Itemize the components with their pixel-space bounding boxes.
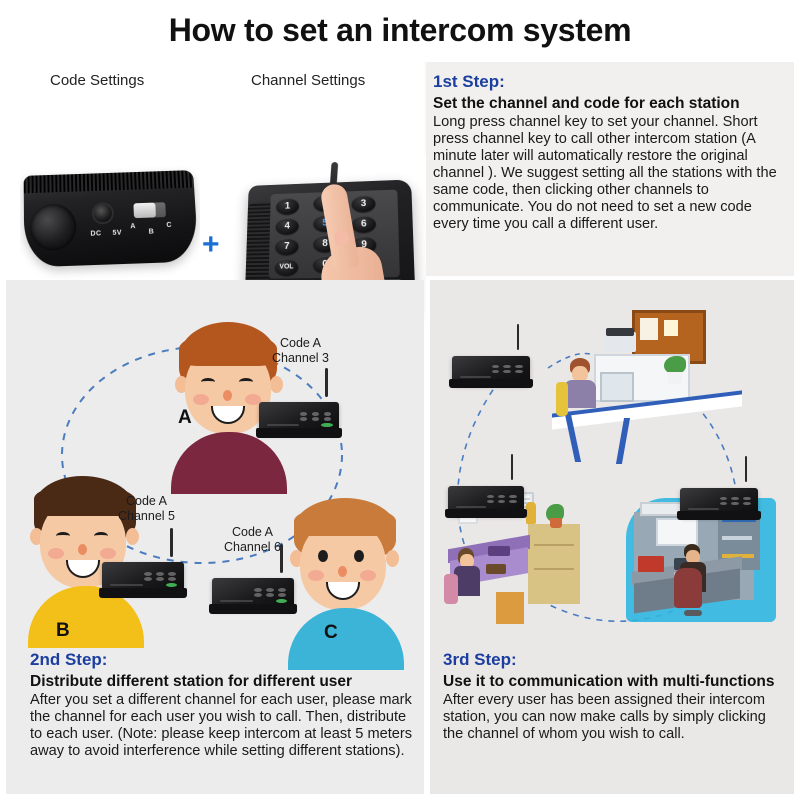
user-c-tag: Code A Channel 6 xyxy=(224,525,281,555)
office-antenna-top-icon xyxy=(517,324,520,350)
user-a-intercom-base xyxy=(256,428,342,438)
index-finger xyxy=(319,182,360,271)
user-c-call-led xyxy=(276,599,287,603)
key-vol[interactable]: VOL xyxy=(275,258,299,275)
user-a-eye-right xyxy=(239,378,253,386)
user-c-fringe xyxy=(294,506,396,536)
office-chair-left xyxy=(444,574,458,604)
user-b-eye-left xyxy=(56,532,70,540)
user-a-channel: Channel 3 xyxy=(272,351,329,366)
office-intercom-right-brand xyxy=(688,508,719,510)
office-intercom-top xyxy=(452,346,530,388)
office-antenna-right-icon xyxy=(745,456,748,482)
user-c-code: Code A xyxy=(224,525,281,540)
user-c-letter: C xyxy=(324,622,338,644)
cabinet-drawer-line-2 xyxy=(534,568,574,570)
user-c-intercom-keys[interactable] xyxy=(253,587,289,598)
code-c-label: C xyxy=(166,222,172,229)
user-c-channel: Channel 6 xyxy=(224,540,281,555)
dc-label: DC xyxy=(90,230,101,237)
user-c-eye-right xyxy=(354,550,364,562)
desk-book xyxy=(486,564,506,574)
channel-settings-caption: Channel Settings xyxy=(251,72,365,89)
user-c-intercom-base xyxy=(209,604,297,614)
step-2-text: 2nd Step: Distribute different station f… xyxy=(30,650,422,760)
office-intercom-left-base xyxy=(445,509,527,518)
device-photos-area: Code Settings Channel Settings DC 5V A B… xyxy=(6,62,424,276)
office-intercom-right-keys[interactable] xyxy=(719,496,753,506)
wooden-chair xyxy=(496,592,524,624)
worker-top-torso xyxy=(564,380,596,408)
user-b-tag: Code A Channel 5 xyxy=(118,494,175,524)
user-b-brand-mark xyxy=(110,584,143,586)
user-a-nose xyxy=(223,390,232,401)
office-scene-top xyxy=(548,310,748,470)
office-antenna-left-icon xyxy=(511,454,514,480)
user-a-ear-right xyxy=(270,376,283,393)
infographic-page: How to set an intercom system Code Setti… xyxy=(0,0,800,800)
step-1-heading: 1st Step: xyxy=(433,72,789,92)
key-4[interactable]: 4 xyxy=(275,218,298,235)
user-c-cheek-left xyxy=(308,570,324,581)
user-a-letter: A xyxy=(178,407,192,429)
corkboard-note-2 xyxy=(664,320,678,336)
user-c xyxy=(288,498,408,630)
window-right xyxy=(656,518,698,546)
step-3-text: 3rd Step: Use it to communication with m… xyxy=(443,650,788,743)
step-2-subheading: Distribute different station for differe… xyxy=(30,673,422,691)
office-intercom-right xyxy=(680,478,758,520)
dc-power-port xyxy=(92,202,115,225)
key-1[interactable]: 1 xyxy=(276,198,299,215)
exec-chair-base xyxy=(684,610,702,616)
filing-cabinet xyxy=(528,524,580,604)
step-3-body: After every user has been assigned their… xyxy=(443,692,788,743)
user-c-brand-mark xyxy=(220,600,253,602)
code-switch[interactable] xyxy=(133,202,166,218)
desk-books-right xyxy=(638,556,664,572)
key-7[interactable]: 7 xyxy=(275,238,299,255)
user-a-intercom-keys[interactable] xyxy=(299,411,334,422)
user-b-intercom-base xyxy=(99,588,187,598)
user-b-cheek-left xyxy=(48,548,64,559)
speaker-knob xyxy=(30,203,77,251)
step-2-body: After you set a different channel for ea… xyxy=(30,692,422,760)
user-b-antenna-icon xyxy=(170,528,173,557)
user-b-code: Code A xyxy=(118,494,175,509)
user-b-intercom xyxy=(102,552,184,598)
user-a-tag: Code A Channel 3 xyxy=(272,336,329,366)
code-a-label: A xyxy=(130,223,136,230)
vent-grille xyxy=(30,172,188,190)
office-intercom-right-base xyxy=(677,511,761,520)
desktop-monitor xyxy=(600,372,634,402)
user-a-call-led xyxy=(321,423,332,427)
desk-plant-pot xyxy=(668,372,682,384)
office-intercom-top-brand xyxy=(460,376,491,378)
cabinet-drawer-line-1 xyxy=(534,544,574,546)
step-3-heading: 3rd Step: xyxy=(443,650,788,670)
user-b-call-led xyxy=(166,583,177,587)
corkboard-note-1 xyxy=(640,318,658,340)
step-2-heading: 2nd Step: xyxy=(30,650,422,670)
plus-icon: + xyxy=(202,230,220,260)
office-intercom-top-keys[interactable] xyxy=(491,364,525,374)
user-a-eye-left xyxy=(201,378,215,386)
user-a-shirt xyxy=(171,432,287,494)
user-b-letter: B xyxy=(56,620,70,642)
cabinet-plant-pot xyxy=(550,518,562,528)
code-settings-photo: DC 5V A B C xyxy=(20,158,200,294)
step-1-subheading: Set the channel and code for each statio… xyxy=(433,95,789,113)
user-c-intercom xyxy=(212,568,294,614)
printer-top xyxy=(606,328,634,336)
user-c-antenna-icon xyxy=(280,544,283,573)
office-chair-top xyxy=(556,382,568,416)
user-a-cheek-left xyxy=(193,394,209,405)
user-a-antenna-icon xyxy=(325,368,328,397)
office-intercom-left xyxy=(448,476,524,518)
step-1-body: Long press channel key to set your chann… xyxy=(433,114,789,233)
page-title: How to set an intercom system xyxy=(169,12,632,49)
step-3-subheading: Use it to communication with multi-funct… xyxy=(443,673,788,691)
office-intercom-left-brand xyxy=(456,506,486,508)
page-title-bar: How to set an intercom system xyxy=(0,0,800,60)
step-1-text: 1st Step: Set the channel and code for e… xyxy=(433,72,789,233)
intercom-rear-panel: DC 5V A B C xyxy=(24,170,199,267)
user-b-nose xyxy=(78,544,87,555)
user-a-code: Code A xyxy=(272,336,329,351)
user-c-nose xyxy=(338,566,347,577)
trophy-icon xyxy=(526,502,536,524)
desk-keyboard xyxy=(488,546,510,556)
shelf-books-2 xyxy=(722,536,752,540)
user-b-eye-right xyxy=(94,532,108,540)
user-a-intercom xyxy=(259,392,339,438)
exec-chair xyxy=(674,568,702,608)
user-c-eye-left xyxy=(318,550,328,562)
user-a-brand-mark xyxy=(267,424,299,426)
office-intercom-top-base xyxy=(449,379,533,388)
voltage-label: 5V xyxy=(112,230,122,237)
user-b-ear-right xyxy=(126,528,139,545)
user-c-cheek-right xyxy=(360,570,376,581)
code-settings-caption: Code Settings xyxy=(50,72,144,89)
user-a-fringe xyxy=(179,332,277,366)
user-b-channel: Channel 5 xyxy=(118,509,175,524)
code-b-label: B xyxy=(149,228,155,235)
user-c-ear-right xyxy=(386,550,399,567)
desk-leg-right xyxy=(616,418,630,464)
user-b-intercom-keys[interactable] xyxy=(143,571,179,582)
office-intercom-left-keys[interactable] xyxy=(486,494,519,504)
